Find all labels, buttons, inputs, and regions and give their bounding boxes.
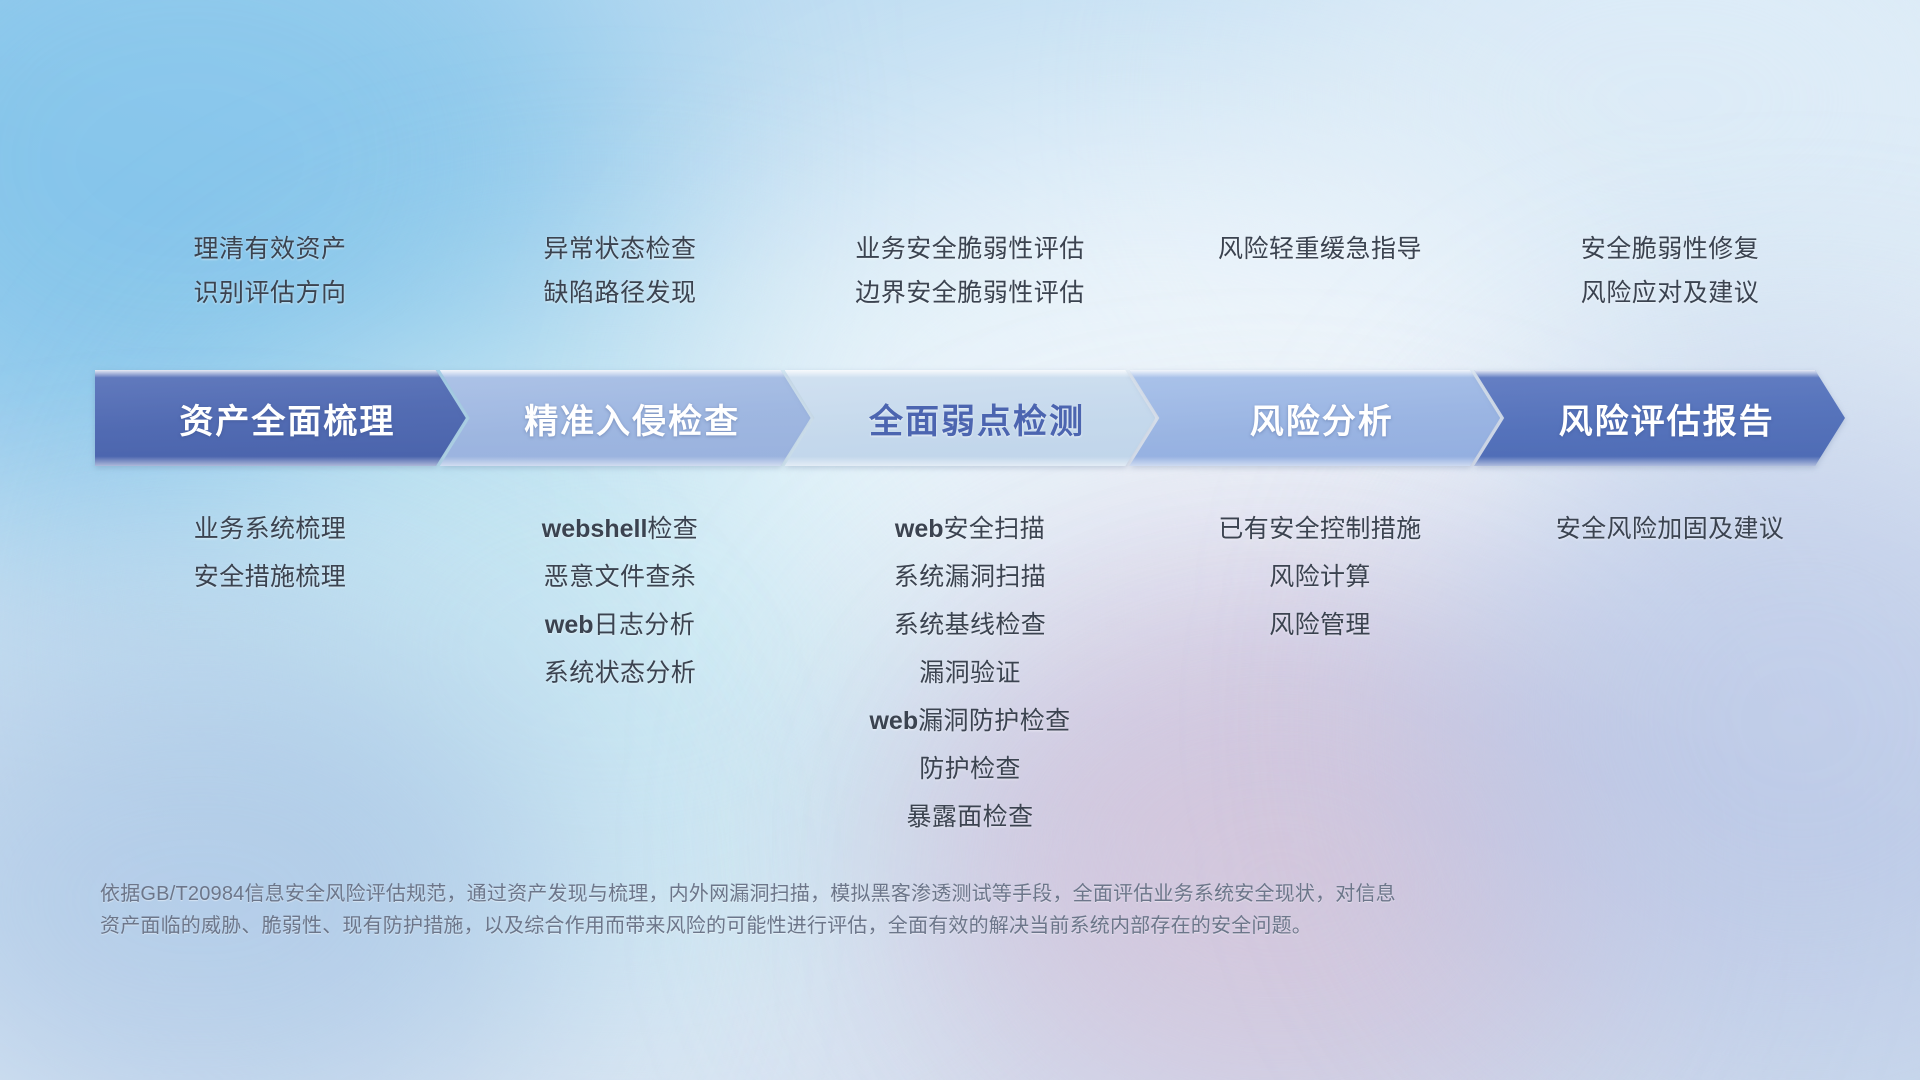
list-item-latin: web <box>895 515 944 543</box>
list-item-text: 风险管理 <box>1269 611 1371 639</box>
top-labels-row: 理清有效资产 识别评估方向 异常状态检查 缺陷路径发现 业务安全脆弱性评估 边界… <box>95 228 1845 315</box>
process-step-asset-inventory[interactable]: 资产全面梳理 <box>95 370 466 466</box>
top-label-line: 识别评估方向 <box>95 272 445 316</box>
list-item-text: 系统漏洞扫描 <box>894 563 1046 591</box>
process-step-label: 风险评估报告 <box>1545 394 1775 443</box>
list-item: 风险管理 <box>1145 601 1495 649</box>
top-label-line: 缺陷路径发现 <box>445 272 795 316</box>
process-step-label: 全面弱点检测 <box>855 394 1085 443</box>
list-item-text: 已有安全控制措施 <box>1218 515 1421 543</box>
process-step-label: 风险分析 <box>1236 394 1394 443</box>
top-label-line: 业务安全脆弱性评估 <box>795 228 1145 272</box>
list-item: webshell检查 <box>445 505 795 553</box>
list-item-text: 恶意文件查杀 <box>544 563 696 591</box>
top-label-line: 安全脆弱性修复 <box>1495 228 1845 272</box>
list-item-text: 系统状态分析 <box>544 659 696 687</box>
list-item: web安全扫描 <box>795 505 1145 553</box>
process-step-label: 资产全面梳理 <box>165 394 395 443</box>
list-item: 暴露面检查 <box>795 793 1145 841</box>
list-item-text: 检查 <box>647 515 698 543</box>
top-labels-step-3: 业务安全脆弱性评估 边界安全脆弱性评估 <box>795 228 1145 315</box>
top-label-line: 风险轻重缓急指导 <box>1145 228 1495 272</box>
list-item-text: 业务系统梳理 <box>194 515 346 543</box>
list-item: web日志分析 <box>445 601 795 649</box>
list-item: 安全风险加固及建议 <box>1495 505 1845 553</box>
top-label-line: 边界安全脆弱性评估 <box>795 272 1145 316</box>
top-labels-step-4: 风险轻重缓急指导 <box>1145 228 1495 315</box>
list-item-latin: web <box>545 611 594 639</box>
bottom-list-step-4: 已有安全控制措施 风险计算 风险管理 <box>1145 505 1495 649</box>
list-item-text: 漏洞验证 <box>919 659 1021 687</box>
bottom-list-step-2: webshell检查 恶意文件查杀 web日志分析 系统状态分析 <box>445 505 795 697</box>
list-item-text: 安全风险加固及建议 <box>1556 515 1785 543</box>
list-item-latin: web <box>869 707 918 735</box>
list-item-text: 安全措施梳理 <box>194 563 346 591</box>
process-step-risk-analysis[interactable]: 风险分析 <box>1129 370 1500 466</box>
list-item: web漏洞防护检查 <box>795 697 1145 745</box>
list-item: 恶意文件查杀 <box>445 553 795 601</box>
top-label-line: 理清有效资产 <box>95 228 445 272</box>
footer-line: 依据GB/T20984信息安全风险评估规范，通过资产发现与梳理，内外网漏洞扫描，… <box>100 878 1660 910</box>
list-item: 防护检查 <box>795 745 1145 793</box>
list-item: 安全措施梳理 <box>95 553 445 601</box>
list-item-text: 防护检查 <box>919 755 1021 783</box>
list-item: 业务系统梳理 <box>95 505 445 553</box>
process-step-label: 精准入侵检查 <box>510 394 740 443</box>
top-labels-step-5: 安全脆弱性修复 风险应对及建议 <box>1495 228 1845 315</box>
list-item: 漏洞验证 <box>795 649 1145 697</box>
bottom-lists-row: 业务系统梳理 安全措施梳理 webshell检查 恶意文件查杀 web日志分析 … <box>95 505 1845 841</box>
footer-description: 依据GB/T20984信息安全风险评估规范，通过资产发现与梳理，内外网漏洞扫描，… <box>100 878 1660 943</box>
process-diagram: 理清有效资产 识别评估方向 异常状态检查 缺陷路径发现 业务安全脆弱性评估 边界… <box>0 0 1920 1080</box>
list-item: 已有安全控制措施 <box>1145 505 1495 553</box>
list-item-text: 风险计算 <box>1269 563 1371 591</box>
top-label-line: 风险应对及建议 <box>1495 272 1845 316</box>
process-chevron-bar: 资产全面梳理 精准入侵检查 全面弱点检测 风险分析 风险评估报告 <box>95 370 1845 466</box>
list-item-text: 漏洞防护检查 <box>918 707 1070 735</box>
list-item-latin: webshell <box>542 515 648 543</box>
process-step-weakness-detection[interactable]: 全面弱点检测 <box>785 370 1156 466</box>
process-step-intrusion-check[interactable]: 精准入侵检查 <box>440 370 811 466</box>
process-step-risk-report[interactable]: 风险评估报告 <box>1474 370 1845 466</box>
list-item-text: 日志分析 <box>594 611 696 639</box>
list-item-text: 安全扫描 <box>944 515 1046 543</box>
top-label-line: 异常状态检查 <box>445 228 795 272</box>
list-item: 风险计算 <box>1145 553 1495 601</box>
list-item: 系统状态分析 <box>445 649 795 697</box>
bottom-list-step-5: 安全风险加固及建议 <box>1495 505 1845 553</box>
list-item: 系统漏洞扫描 <box>795 553 1145 601</box>
list-item-text: 暴露面检查 <box>906 803 1033 831</box>
list-item: 系统基线检查 <box>795 601 1145 649</box>
top-labels-step-1: 理清有效资产 识别评估方向 <box>95 228 445 315</box>
list-item-text: 系统基线检查 <box>894 611 1046 639</box>
top-labels-step-2: 异常状态检查 缺陷路径发现 <box>445 228 795 315</box>
bottom-list-step-1: 业务系统梳理 安全措施梳理 <box>95 505 445 601</box>
bottom-list-step-3: web安全扫描 系统漏洞扫描 系统基线检查 漏洞验证 web漏洞防护检查 防护检… <box>795 505 1145 841</box>
footer-line: 资产面临的威胁、脆弱性、现有防护措施，以及综合作用而带来风险的可能性进行评估，全… <box>100 910 1660 942</box>
